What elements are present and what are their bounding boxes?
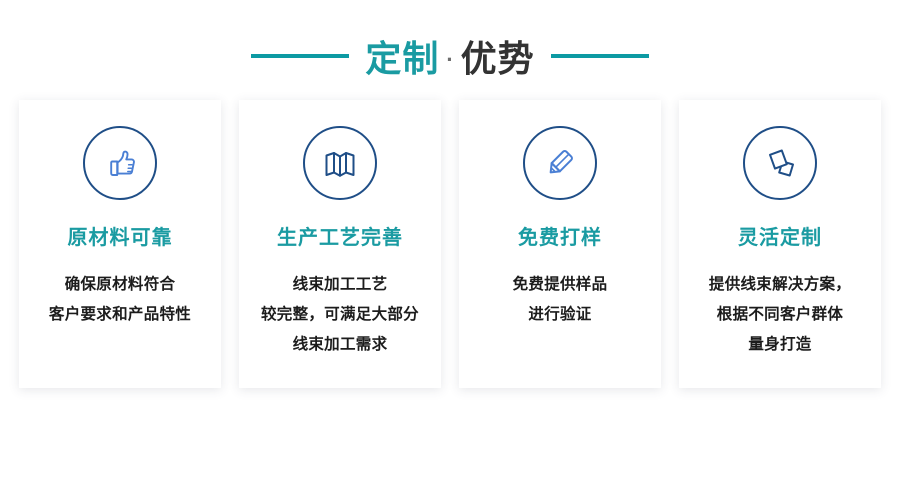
feature-card-custom[interactable]: 灵活定制 提供线束解决方案， 根据不同客户群体 量身打造 xyxy=(679,100,881,388)
pencil-icon xyxy=(523,126,597,200)
title-separator-dot: · xyxy=(439,47,460,73)
feature-card-process[interactable]: 生产工艺完善 线束加工工艺 较完整，可满足大部分 线束加工需求 xyxy=(239,100,441,388)
feature-card-description: 免费提供样品 进行验证 xyxy=(513,270,608,330)
page-title-secondary: 优势 xyxy=(461,30,535,82)
feature-card-title: 原材料可靠 xyxy=(68,226,173,250)
feature-card-free-sample[interactable]: 免费打样 免费提供样品 进行验证 xyxy=(459,100,661,388)
thumbs-up-icon xyxy=(83,126,157,200)
page-title-primary: 定制 xyxy=(365,30,439,82)
feature-card-title: 生产工艺完善 xyxy=(277,226,403,250)
stacked-cards-icon xyxy=(743,126,817,200)
feature-card-raw-material[interactable]: 原材料可靠 确保原材料符合 客户要求和产品特性 xyxy=(19,100,221,388)
feature-card-description: 确保原材料符合 客户要求和产品特性 xyxy=(49,270,191,330)
page-title: 定制 · 优势 xyxy=(365,30,534,82)
folded-map-icon xyxy=(303,126,377,200)
feature-card-title: 免费打样 xyxy=(518,226,602,250)
feature-card-description: 提供线束解决方案， 根据不同客户群体 量身打造 xyxy=(709,270,851,360)
feature-card-description: 线束加工工艺 较完整，可满足大部分 线束加工需求 xyxy=(261,270,419,360)
feature-cards-row: 原材料可靠 确保原材料符合 客户要求和产品特性 生产工艺完善 线束加工工艺 较完… xyxy=(0,100,900,388)
section-header: 定制 · 优势 xyxy=(0,0,900,100)
feature-card-title: 灵活定制 xyxy=(738,226,822,250)
header-rule-right xyxy=(551,54,649,58)
header-rule-left xyxy=(251,54,349,58)
